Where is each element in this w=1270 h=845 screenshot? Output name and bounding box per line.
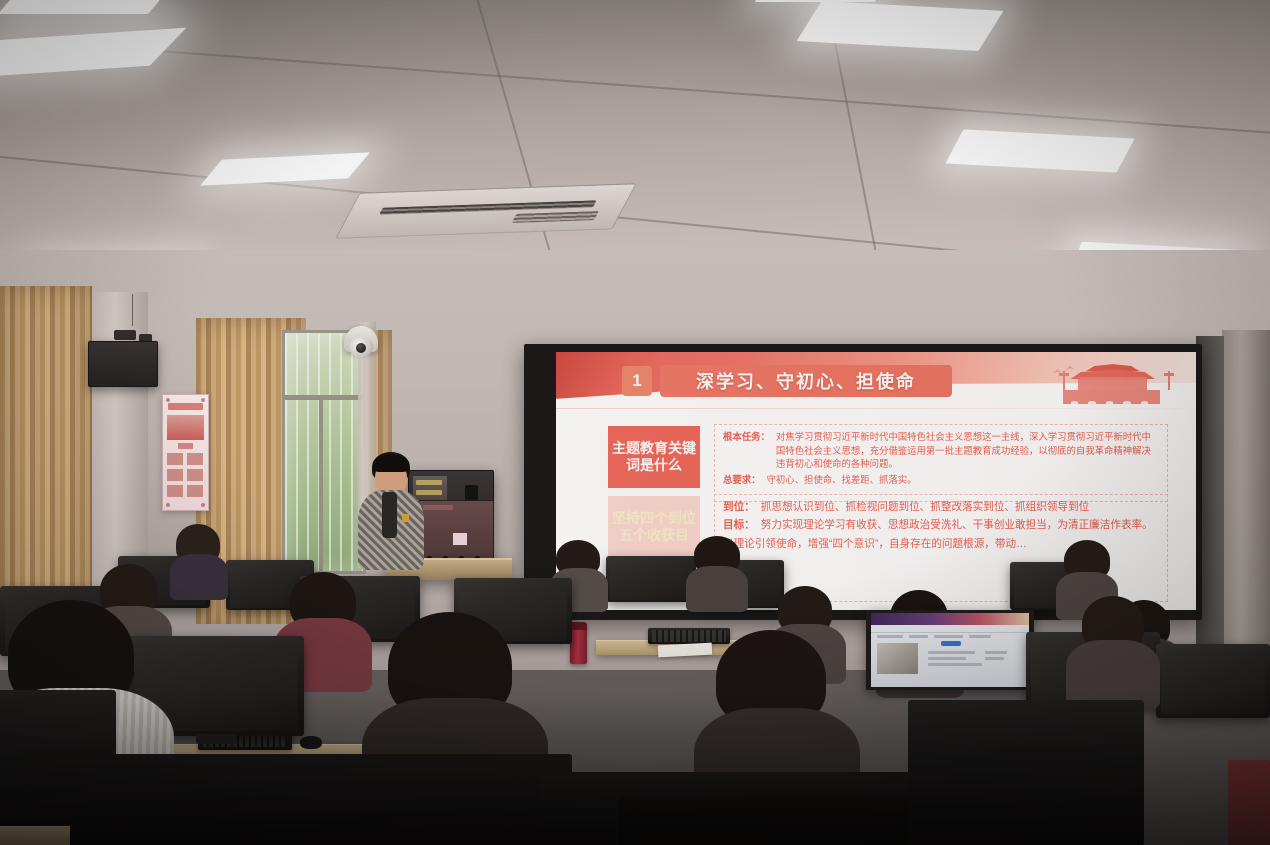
poster-thumb: [167, 469, 183, 482]
browser-toolbar[interactable]: [871, 625, 1029, 633]
poster-thumb: [187, 485, 203, 498]
desk-front-panel: [908, 700, 1144, 845]
ceiling-light-panel: [0, 28, 186, 79]
monitor[interactable]: [606, 556, 696, 602]
desk-front-panel: [0, 690, 116, 845]
desk: [0, 826, 70, 845]
text-key: 总要求：: [723, 473, 761, 487]
slide-header-title: 深学习、守初心、担使命: [660, 365, 952, 397]
window-security-bars: [285, 333, 363, 571]
text-value: 以理论引领使命，增强“四个意识”，自身存在的问题根源，带动…: [723, 537, 1027, 552]
keyboard[interactable]: [648, 628, 730, 644]
poster-thumb: [187, 469, 203, 482]
browser-header-banner: [871, 613, 1029, 625]
browser-window[interactable]: [871, 613, 1029, 687]
text-value: 努力实现理论学习有收获、思想政治受洗礼、干事创业敢担当，为清正廉洁作表率。: [761, 518, 1153, 533]
desk-front-panel: [1228, 760, 1270, 845]
slide-block-label-2: 坚持四个到位五个收获目: [608, 496, 700, 558]
speaker-bracket: [114, 330, 136, 340]
poster-thumb: [187, 453, 203, 466]
ceiling-light-panel: [797, 1, 1004, 51]
text-value: 对焦学习贯彻习近平新时代中国特色社会主义思想这一主线，深入学习贯彻习近平新时代中…: [776, 430, 1159, 471]
wall-poster: [162, 394, 209, 511]
ceiling-light-panel: [0, 0, 160, 14]
wall-pillar-right: [1222, 330, 1270, 660]
ptz-dome-camera: [344, 326, 378, 352]
ceiling-light-panel: [755, 0, 885, 2]
poster-hero-image: [167, 415, 204, 440]
mouse[interactable]: [300, 736, 322, 749]
ceiling-ac-vent: [335, 183, 637, 238]
text-key: 到位：: [723, 500, 755, 515]
text-value: 抓思想认识到位、抓检视问题到位、抓整改落实到位、抓组织领导到位: [761, 500, 1089, 515]
slide-block-label-1: 主题教育关键词是什么: [608, 426, 700, 488]
thermos-bottle: [570, 622, 587, 664]
poster-title-bar: [168, 403, 202, 410]
ceiling-light-panel: [200, 152, 370, 185]
dove-icon: [1065, 366, 1074, 370]
control-monitor[interactable]: [418, 500, 494, 560]
tiananmen-illustration: [1055, 360, 1183, 404]
poster-logo: [178, 443, 192, 449]
classroom-scene: 1 深学习、守初心、担使命 主题教育关键词: [0, 0, 1270, 845]
desk-front-panel: [102, 754, 572, 845]
wall-speaker: [88, 341, 158, 387]
text-key: 根本任务：: [723, 430, 770, 444]
poster-thumb: [167, 485, 183, 498]
flagpole-left: [1063, 371, 1065, 390]
flagpole-right: [1168, 371, 1170, 390]
camera-lens-icon: [356, 343, 366, 353]
monitor[interactable]: [1156, 644, 1270, 718]
slide-block-text-1: 根本任务： 对焦学习贯彻习近平新时代中国特色社会主义思想这一主线，深入学习贯彻习…: [714, 424, 1168, 502]
slide-badge-number: 1: [622, 366, 652, 396]
attendee-browser-monitor[interactable]: [866, 610, 1034, 690]
browser-thumbnail: [877, 643, 918, 674]
gate-base: [1063, 390, 1160, 404]
poster-thumb: [167, 453, 183, 466]
browser-primary-button[interactable]: [941, 641, 962, 646]
text-key: 目标：: [723, 518, 755, 533]
window: [282, 330, 366, 574]
gate-body: [1078, 377, 1147, 390]
ceiling-light-panel: [945, 129, 1134, 172]
monitor-sticker: [453, 533, 467, 545]
window-curtain-left: [0, 286, 92, 616]
speaker-hanger: [132, 294, 133, 326]
text-value: 守初心、担使命、找差距、抓落实。: [767, 473, 917, 487]
